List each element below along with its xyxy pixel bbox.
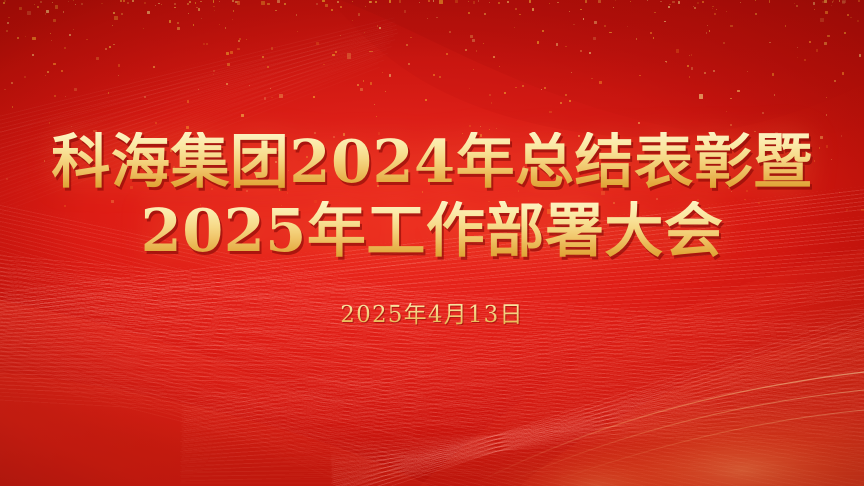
event-date: 2025年4月13日 xyxy=(340,295,523,329)
conference-backdrop-banner: 科海集团2024年总结表彰暨 2025年工作部署大会 2025年4月13日 xyxy=(0,0,864,486)
title-line-2: 2025年工作部署大会 xyxy=(51,201,812,261)
page-title: 科海集团2024年总结表彰暨 2025年工作部署大会 xyxy=(51,132,812,261)
title-line-1: 科海集团2024年总结表彰暨 xyxy=(51,132,812,192)
banner-content: 科海集团2024年总结表彰暨 2025年工作部署大会 2025年4月13日 xyxy=(0,0,864,486)
